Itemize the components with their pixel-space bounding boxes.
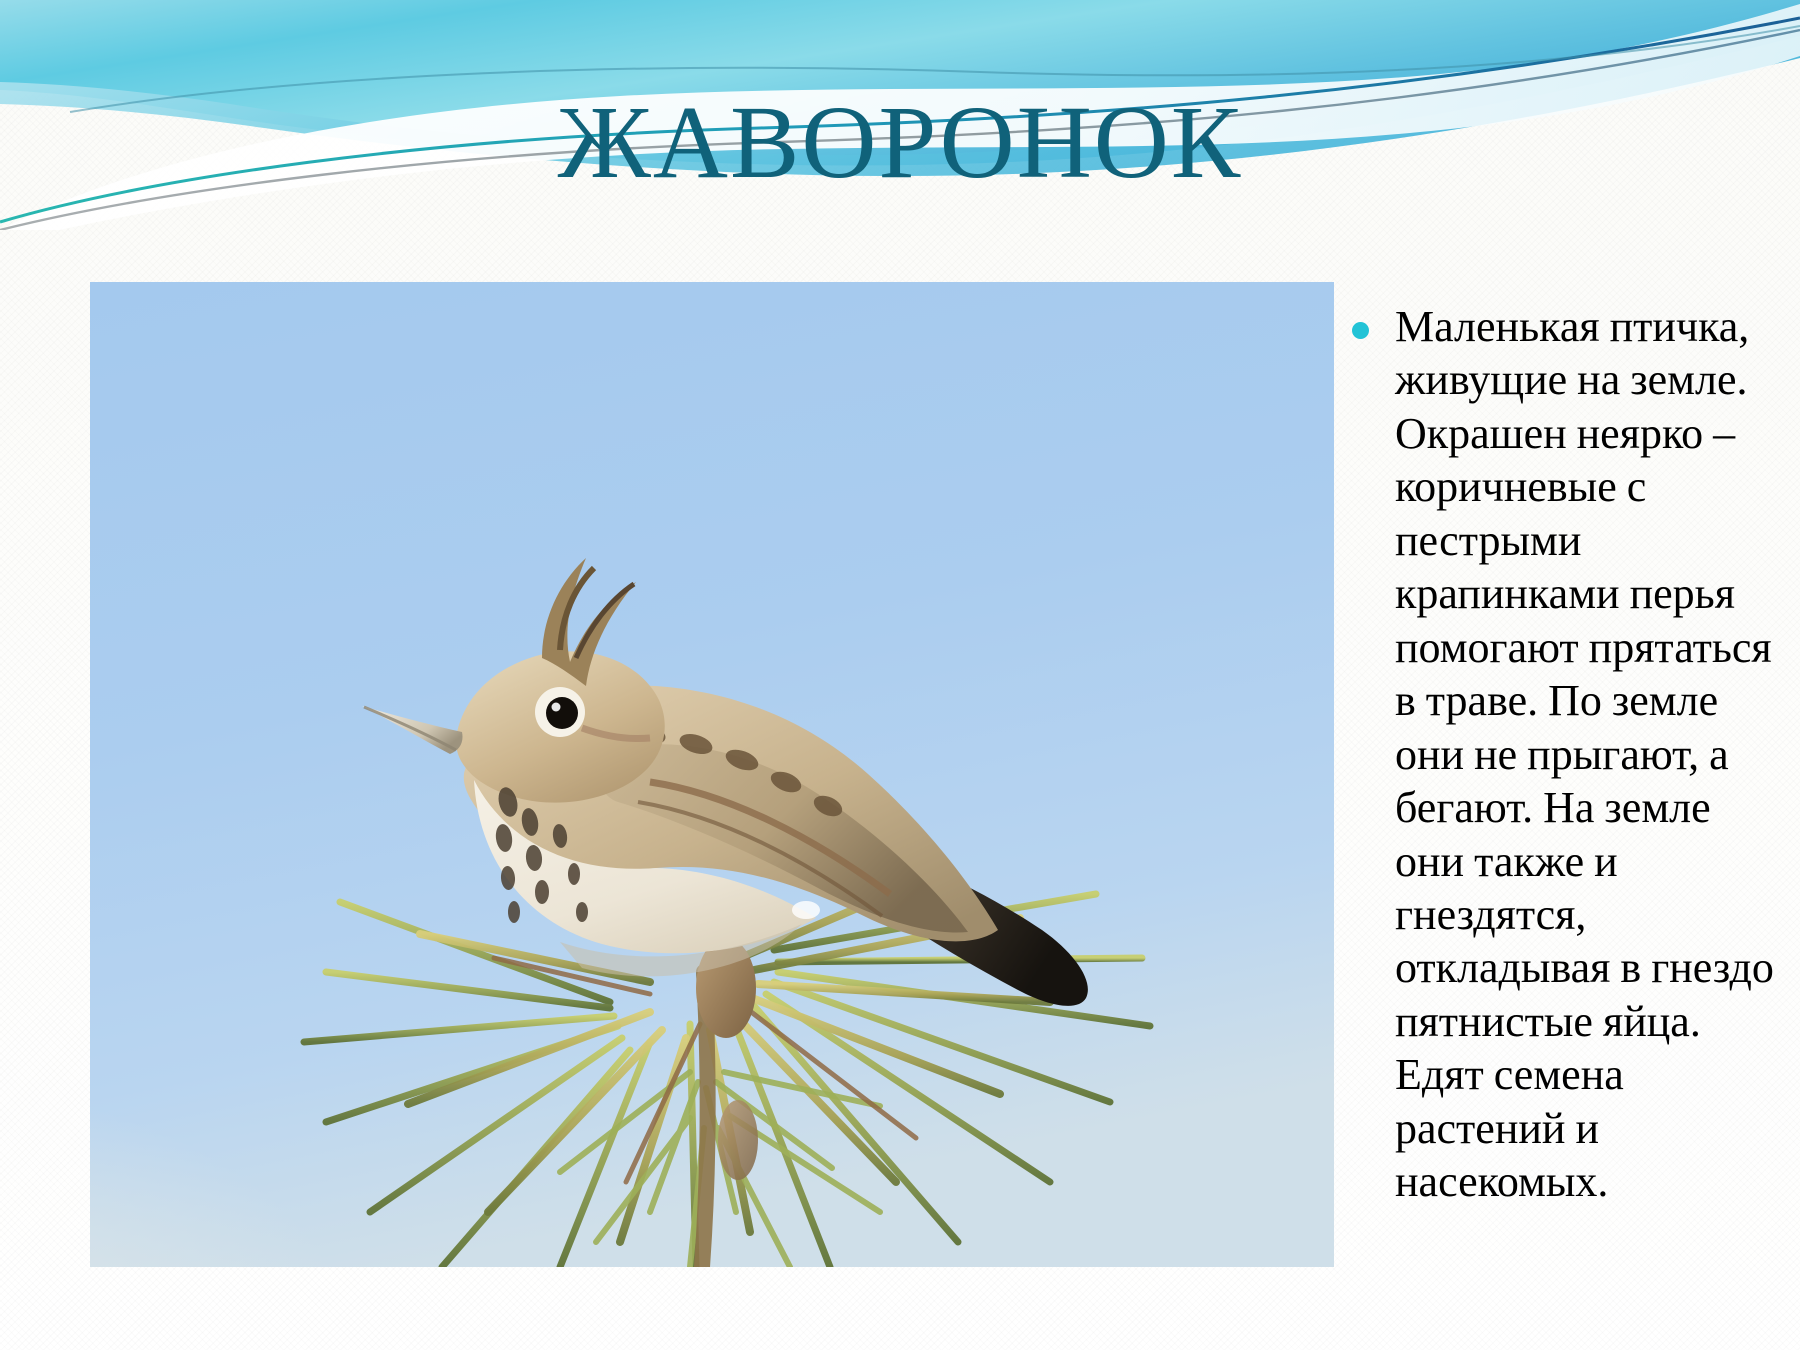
bullet-marker-icon [1352, 322, 1369, 339]
bird-photo-illustration [90, 282, 1334, 1267]
bird-eye [546, 697, 578, 729]
content-bullet-list: Маленькая птичка, живущие на земле. Окра… [1352, 300, 1782, 1209]
presentation-slide: ЖАВОРОНОК [0, 0, 1800, 1350]
bullet-text: Маленькая птичка, живущие на земле. Окра… [1395, 300, 1782, 1209]
bird-photo [90, 282, 1334, 1267]
pine-cone-lower [718, 1100, 758, 1180]
slide-title: ЖАВОРОНОК [0, 88, 1800, 197]
